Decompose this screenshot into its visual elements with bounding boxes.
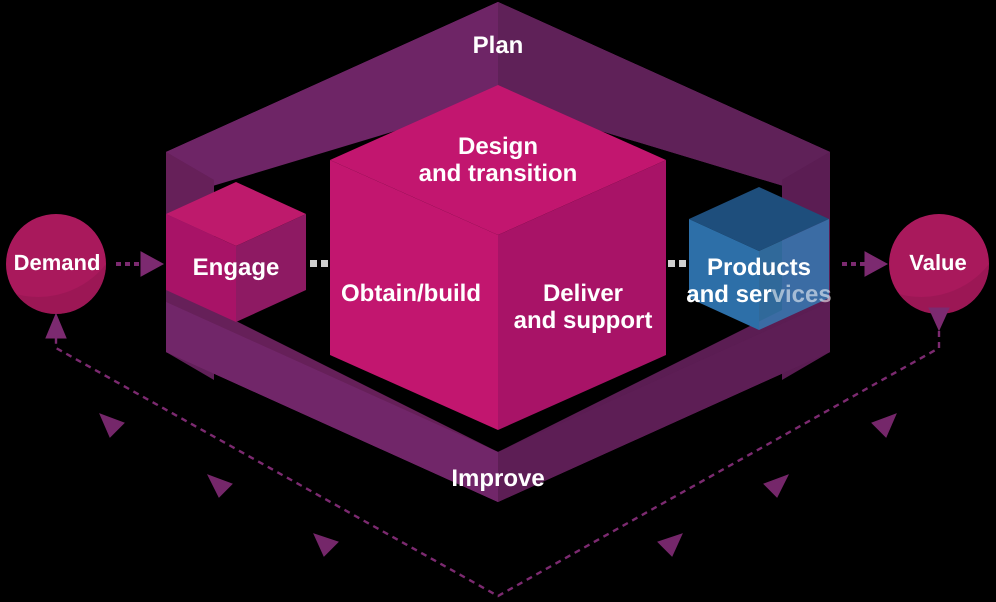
feedback-chevron-right-3 xyxy=(872,414,896,437)
feedback-chevron-left-1 xyxy=(314,534,338,556)
feedback-chevron-right-2 xyxy=(764,475,788,497)
service-value-chain-svg xyxy=(0,0,996,602)
feedback-chevron-right-1 xyxy=(658,534,682,556)
value-node[interactable] xyxy=(889,214,989,314)
feedback-arrowhead-from-value xyxy=(929,308,949,330)
feedback-arrowhead-into-demand xyxy=(46,314,66,338)
arrow-products-to-value-head xyxy=(865,252,887,276)
feedback-chevron-left-2 xyxy=(208,475,232,497)
arrow-demand-to-engage-head xyxy=(141,252,163,276)
demand-node[interactable] xyxy=(6,214,106,314)
connector-engage-to-chain-dot-2 xyxy=(321,260,328,267)
connector-chain-to-products-dot-1 xyxy=(668,260,675,267)
feedback-chevron-left-3 xyxy=(100,414,124,437)
diagram-canvas: Plan Improve Design and transition Obtai… xyxy=(0,0,996,602)
central-cube[interactable] xyxy=(330,85,666,430)
connector-engage-to-chain-dot-1 xyxy=(310,260,317,267)
connector-chain-to-products-dot-2 xyxy=(679,260,686,267)
